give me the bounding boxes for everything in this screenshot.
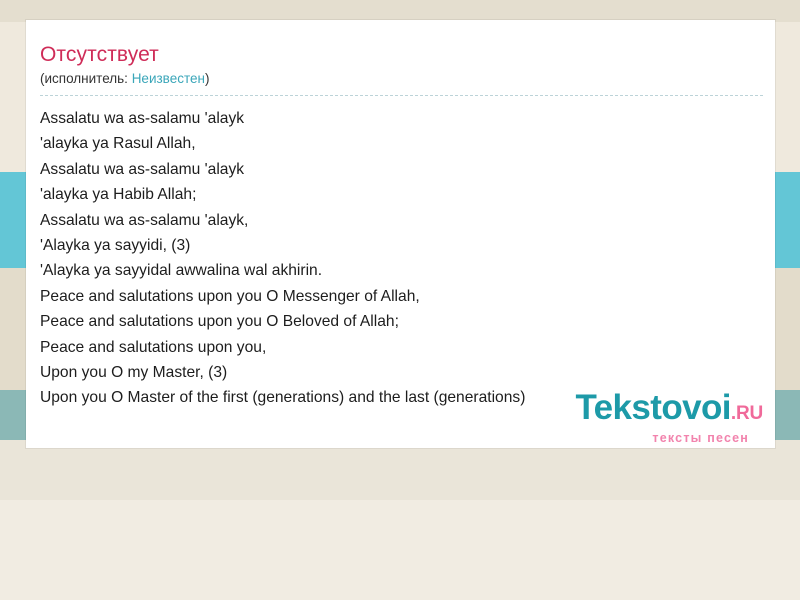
lyrics-line: 'alayka ya Rasul Allah, [40, 131, 757, 156]
watermark-site-name: Tekstovoi [575, 388, 730, 427]
lyrics-line: Assalatu wa as-salamu 'alayk, [40, 208, 757, 233]
lyrics-card: Отсутствует (исполнитель: Неизвестен) As… [26, 20, 775, 448]
lyrics-line: Peace and salutations upon you O Messeng… [40, 284, 757, 309]
lyrics-line: 'alayka ya Habib Allah; [40, 182, 757, 207]
artist-link[interactable]: Неизвестен [132, 71, 205, 86]
background-band-bottom [0, 500, 800, 600]
artist-label: (исполнитель: [40, 71, 132, 86]
lyrics-line: 'Alayka ya sayyidi, (3) [40, 233, 757, 258]
background-band-top [0, 0, 800, 22]
background-band-pale [0, 440, 800, 500]
lyrics-card-content: Отсутствует (исполнитель: Неизвестен) As… [26, 20, 775, 411]
watermark-subtitle: тексты песен [575, 432, 749, 445]
header-divider [40, 95, 763, 96]
lyrics-line: Upon you O my Master, (3) [40, 360, 757, 385]
lyrics-line: Assalatu wa as-salamu 'alayk [40, 106, 757, 131]
site-watermark: Tekstovoi.RU тексты песен [575, 391, 763, 445]
lyrics-line: Peace and salutations upon you, [40, 335, 757, 360]
lyrics-line: Peace and salutations upon you O Beloved… [40, 309, 757, 334]
song-title: Отсутствует [40, 42, 757, 68]
artist-line: (исполнитель: Неизвестен) [40, 70, 757, 88]
artist-suffix: ) [205, 71, 210, 86]
lyrics-text: Assalatu wa as-salamu 'alayk 'alayka ya … [40, 106, 757, 411]
lyrics-line: Assalatu wa as-salamu 'alayk [40, 157, 757, 182]
page-background: Отсутствует (исполнитель: Неизвестен) As… [0, 0, 800, 600]
watermark-wordmark: Tekstovoi.RU [575, 391, 763, 431]
lyrics-line: 'Alayka ya sayyidal awwalina wal akhirin… [40, 258, 757, 283]
watermark-tld: .RU [731, 403, 763, 424]
